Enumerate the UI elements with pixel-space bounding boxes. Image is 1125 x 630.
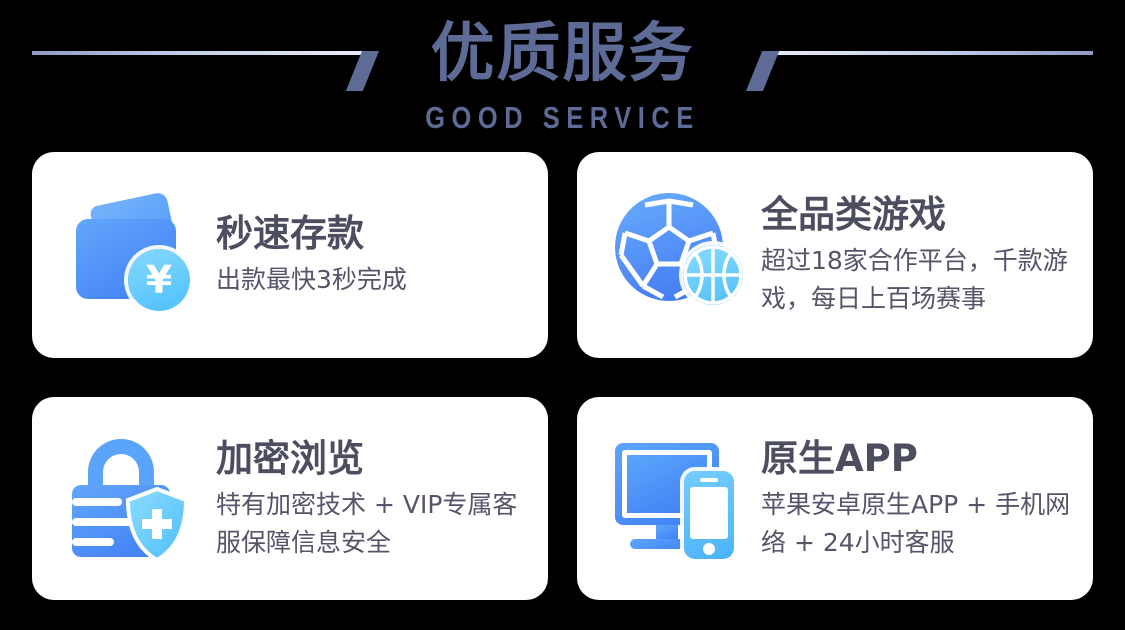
service-card-text: 原生APP 苹果安卓原生APP + 手机网络 + 24小时客服: [749, 436, 1093, 562]
service-card-desc: 超过18家合作平台，千款游戏，每日上百场赛事: [761, 242, 1079, 318]
service-card-encryption[interactable]: 加密浏览 特有加密技术 + VIP专属客服保障信息安全: [32, 397, 548, 600]
service-card-text: 秒速存款 出款最快3秒完成: [204, 211, 421, 299]
page-subtitle: GOOD SERVICE: [101, 100, 1024, 136]
header-title-block: 优质服务 GOOD SERVICE: [0, 0, 1125, 136]
service-card-text: 加密浏览 特有加密技术 + VIP专属客服保障信息安全: [204, 436, 548, 562]
monitor-phone-icon: [607, 433, 749, 565]
service-card-title: 秒速存款: [216, 211, 407, 257]
service-card-grid: ¥ 秒速存款 出款最快3秒完成: [32, 152, 1093, 600]
lock-line-1: [72, 498, 122, 506]
page-title: 优质服务: [0, 0, 1125, 100]
service-card-native-app[interactable]: 原生APP 苹果安卓原生APP + 手机网络 + 24小时客服: [577, 397, 1093, 600]
phone-icon: [684, 471, 734, 559]
yen-coin-icon: ¥: [128, 249, 190, 311]
lock-shield-icon: [62, 433, 204, 565]
service-card-games[interactable]: 全品类游戏 超过18家合作平台，千款游戏，每日上百场赛事: [577, 152, 1093, 358]
wallet-yen-icon: ¥: [62, 189, 204, 321]
soccer-basketball-icon: [607, 189, 749, 321]
service-card-deposit[interactable]: ¥ 秒速存款 出款最快3秒完成: [32, 152, 548, 358]
phone-home-button: [703, 543, 715, 555]
basketball-icon: [683, 245, 743, 305]
service-card-title: 全品类游戏: [761, 192, 1079, 238]
phone-speaker: [700, 478, 718, 482]
yen-symbol: ¥: [146, 261, 172, 299]
service-card-text: 全品类游戏 超过18家合作平台，千款游戏，每日上百场赛事: [749, 192, 1093, 318]
service-card-title: 加密浏览: [216, 436, 534, 482]
service-card-desc: 苹果安卓原生APP + 手机网络 + 24小时客服: [761, 486, 1079, 562]
lock-line-3: [72, 538, 114, 546]
service-card-desc: 出款最快3秒完成: [216, 261, 407, 299]
phone-screen: [690, 487, 728, 539]
shield-plus-icon: [124, 487, 190, 563]
service-card-desc: 特有加密技术 + VIP专属客服保障信息安全: [216, 486, 534, 562]
service-card-title: 原生APP: [761, 436, 1079, 482]
page-header: 优质服务 GOOD SERVICE: [0, 0, 1125, 142]
